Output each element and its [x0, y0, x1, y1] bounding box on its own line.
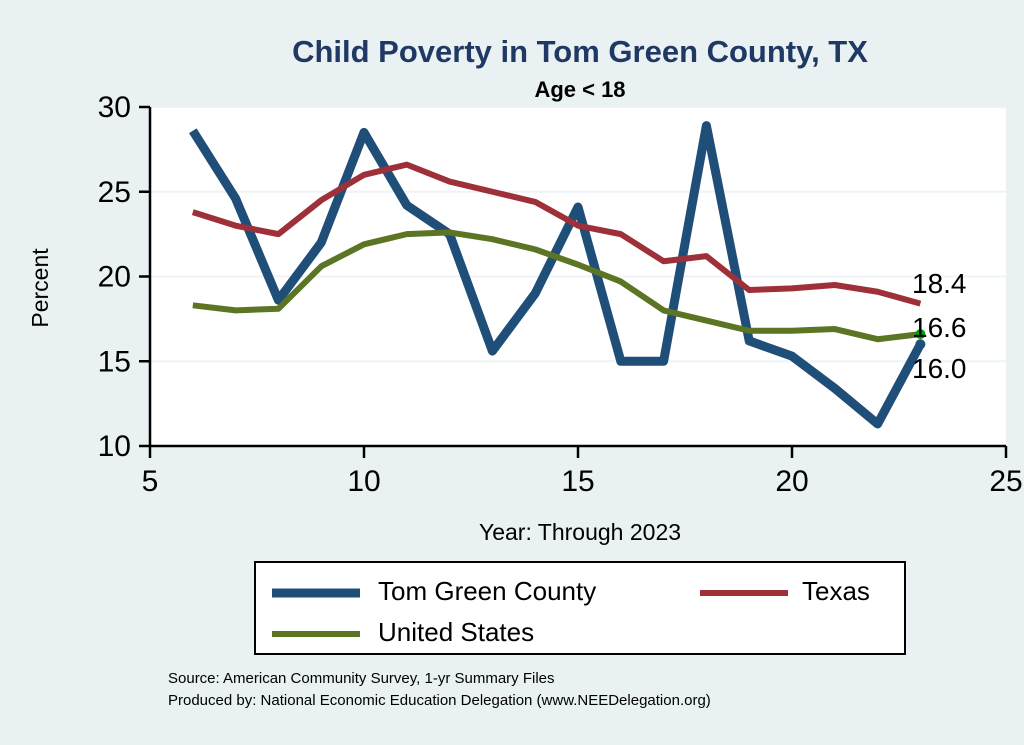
y-tick-label-10: 10	[98, 430, 131, 463]
endpoint-label-texas: 18.4	[912, 268, 967, 299]
child-poverty-line-chart: Child Poverty in Tom Green County, TX Ag…	[0, 0, 1024, 745]
x-tick-label-20: 20	[775, 465, 808, 498]
legend-label-tom-green-county: Tom Green County	[378, 576, 596, 606]
endpoint-value-labels: 16.018.416.6	[912, 268, 967, 384]
endpoint-label-tom-green-county: 16.0	[912, 353, 967, 384]
source-line-1: Source: American Community Survey, 1-yr …	[168, 670, 555, 687]
legend-label-texas: Texas	[802, 576, 870, 606]
chart-title: Child Poverty in Tom Green County, TX	[292, 34, 868, 69]
endpoint-label-united-states: 16.6	[912, 312, 967, 343]
x-tick-label-25: 25	[989, 465, 1022, 498]
y-tick-label-30: 30	[98, 91, 131, 124]
x-tick-label-15: 15	[561, 465, 594, 498]
y-tick-label-15: 15	[98, 345, 131, 378]
chart-container: Child Poverty in Tom Green County, TX Ag…	[0, 0, 1024, 745]
x-axis-title: Year: Through 2023	[479, 519, 681, 545]
y-tick-label-25: 25	[98, 176, 131, 209]
x-tick-label-5: 5	[142, 465, 159, 498]
x-tick-label-10: 10	[347, 465, 380, 498]
legend-label-united-states: United States	[378, 617, 534, 647]
y-tick-label-20: 20	[98, 261, 131, 294]
y-axis-title: Percent	[27, 248, 53, 328]
source-line-2: Produced by: National Economic Education…	[168, 692, 711, 709]
chart-subtitle: Age < 18	[534, 77, 625, 102]
